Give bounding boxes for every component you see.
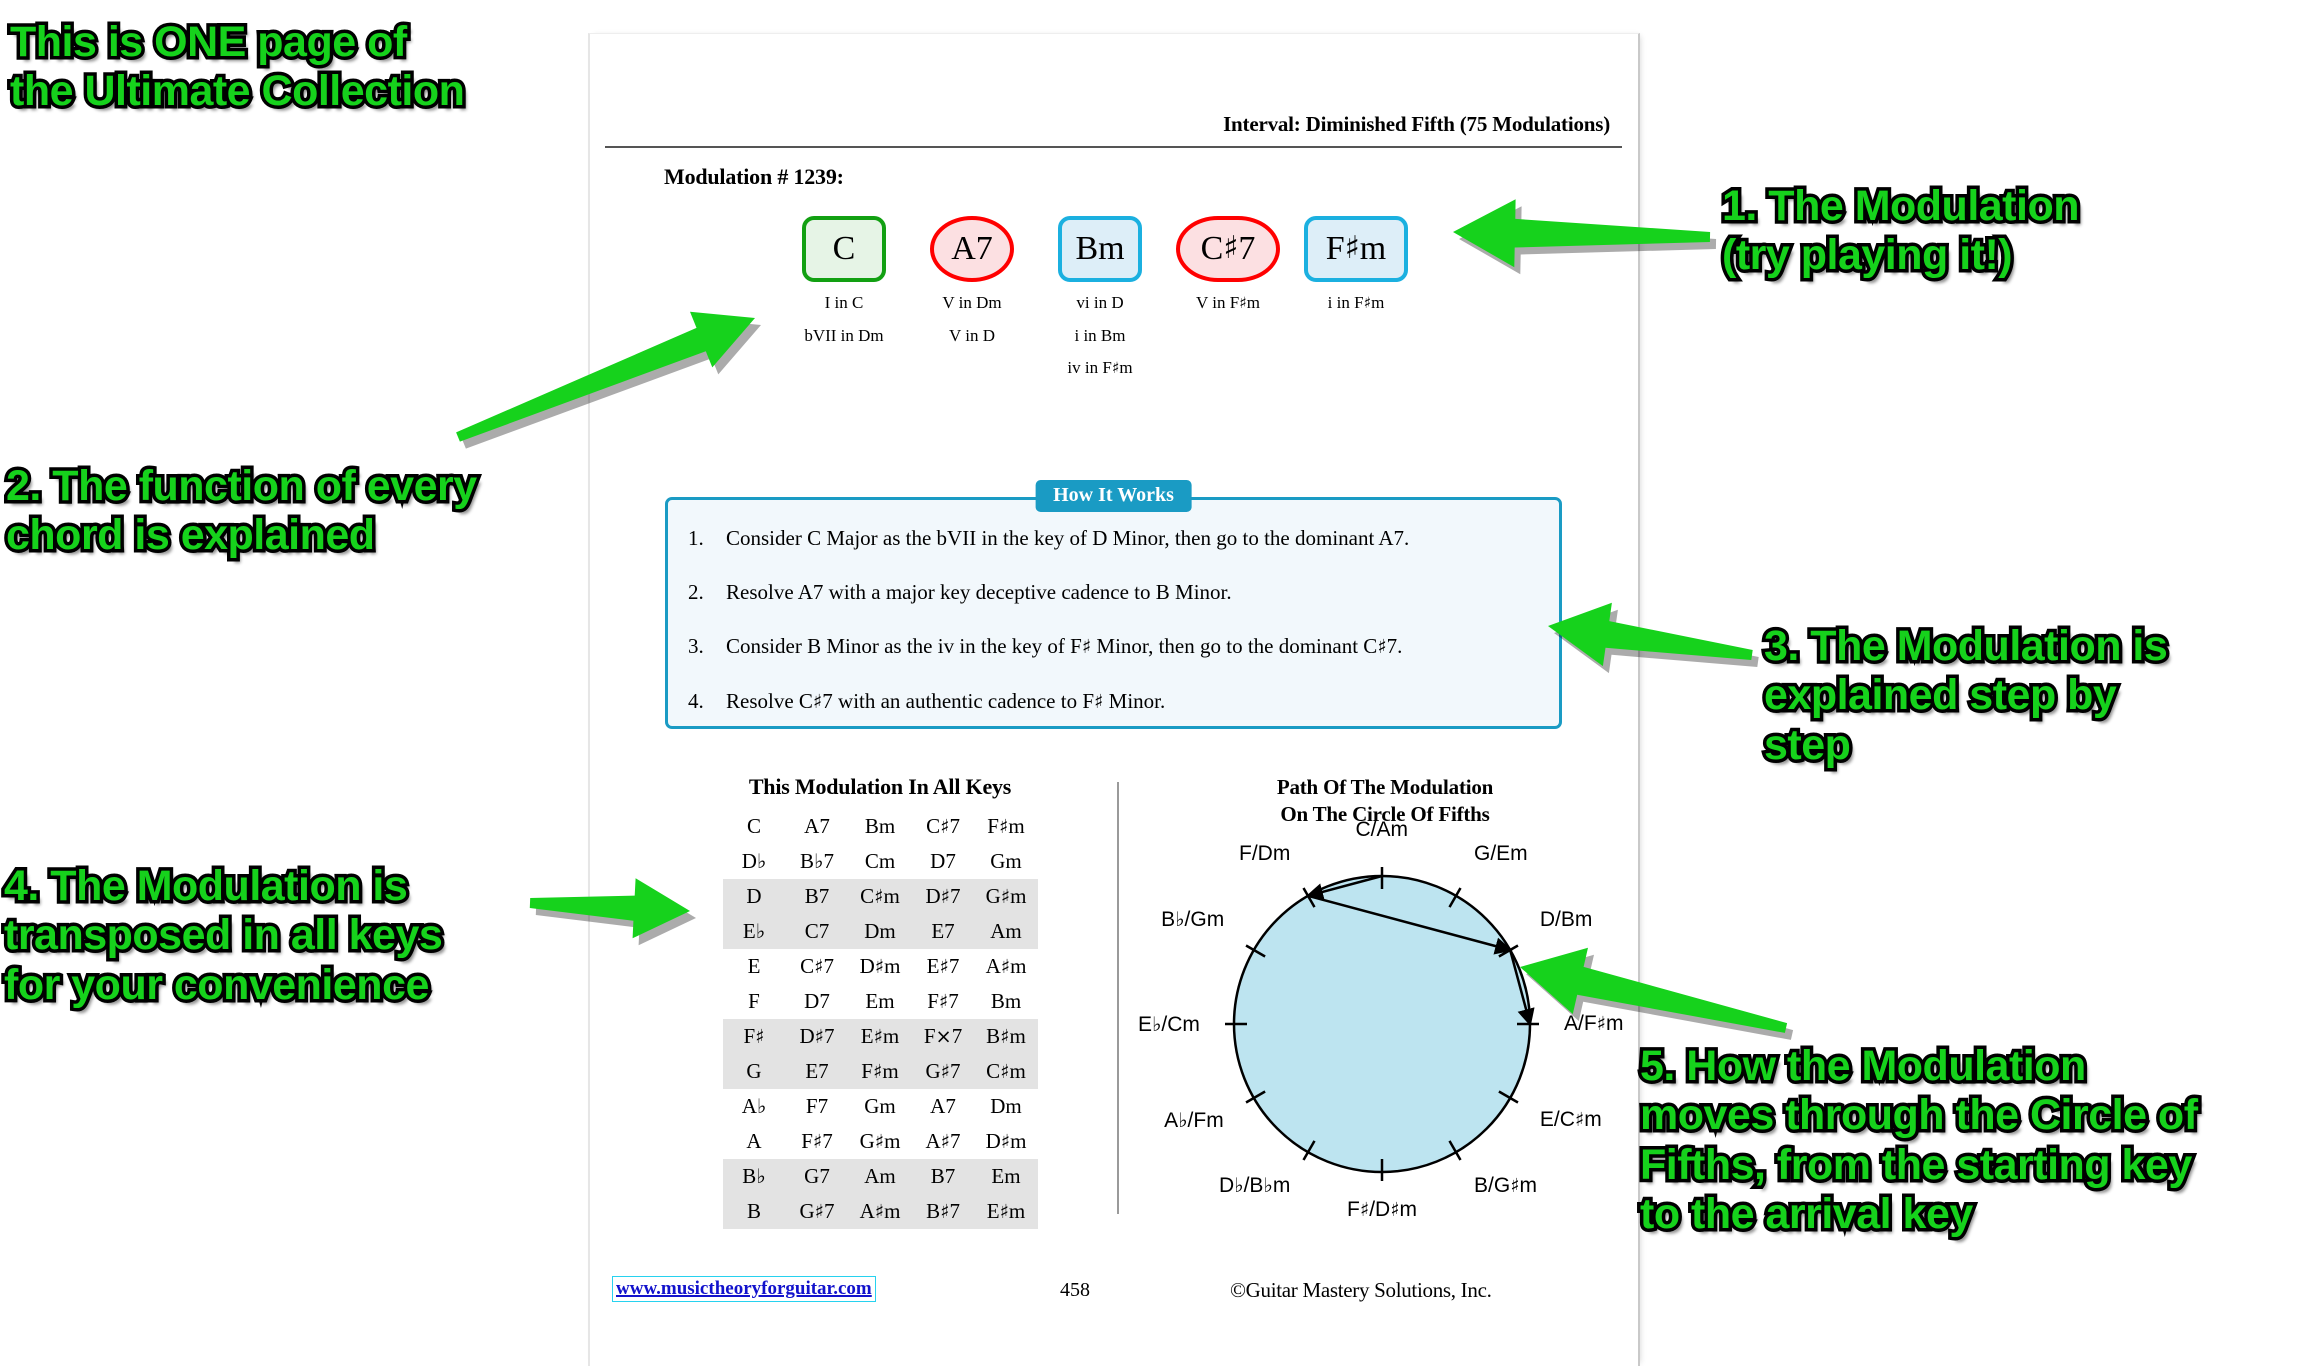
- arrow-to-circle: [0, 0, 2305, 1366]
- arrow-shape: [1520, 948, 1787, 1033]
